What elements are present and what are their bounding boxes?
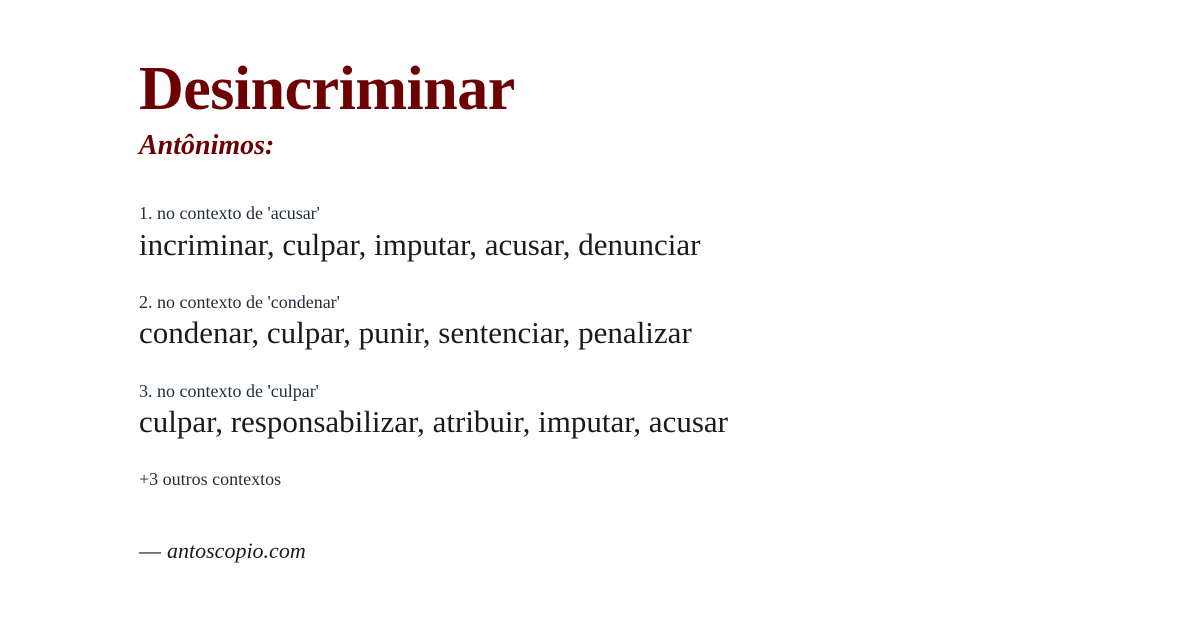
sense-entry: 2. no contexto de 'condenar' condenar, c… <box>139 291 1200 354</box>
sense-antonym-list: incriminar, culpar, imputar, acusar, den… <box>139 225 1200 265</box>
sense-context-label: 1. no contexto de 'acusar' <box>139 202 1200 225</box>
section-label: Antônimos: <box>139 120 1200 160</box>
antonyms-card: Desincriminar Antônimos: 1. no contexto … <box>0 0 1200 628</box>
more-contexts-note: +3 outros contextos <box>139 442 1200 491</box>
sense-entry: 3. no contexto de 'culpar' culpar, respo… <box>139 380 1200 443</box>
sense-list: 1. no contexto de 'acusar' incriminar, c… <box>139 160 1200 442</box>
sense-entry: 1. no contexto de 'acusar' incriminar, c… <box>139 202 1200 265</box>
attribution: —antoscopio.com <box>139 491 1200 564</box>
em-dash-icon: — <box>139 538 167 563</box>
sense-antonym-list: condenar, culpar, punir, sentenciar, pen… <box>139 313 1200 353</box>
sense-antonym-list: culpar, responsabilizar, atribuir, imput… <box>139 402 1200 442</box>
sense-context-label: 3. no contexto de 'culpar' <box>139 380 1200 403</box>
attribution-source: antoscopio.com <box>167 538 306 563</box>
sense-context-label: 2. no contexto de 'condenar' <box>139 291 1200 314</box>
page-title: Desincriminar <box>139 0 1200 120</box>
